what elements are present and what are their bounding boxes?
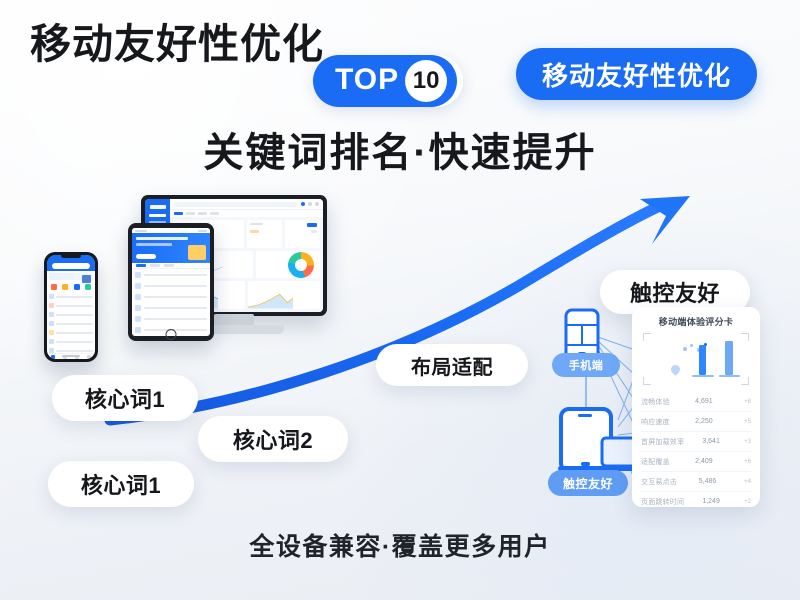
dashboard-logo <box>150 205 166 209</box>
table-row: 页面跳转时间 1,249 +2 <box>641 492 751 507</box>
quick-icon <box>51 284 57 290</box>
top-rank-badge-inner: TOP 10 <box>313 55 457 107</box>
phone-list <box>47 292 95 353</box>
dashboard-toolbar-dot <box>315 202 319 206</box>
diagram-pill-touch: 触控友好 <box>548 470 628 496</box>
dashboard-toolbar-dot <box>308 202 312 206</box>
list-item <box>49 294 93 299</box>
poster-canvas: 移动友好性优化 TOP 10 移动友好性优化 关键词排名·快速提升 <box>0 0 800 600</box>
phone-quick-icons <box>47 282 95 292</box>
phone-screen <box>47 255 95 359</box>
footer-tagline: 全设备兼容·覆盖更多用户 <box>0 527 800 563</box>
row-value: 5,486 <box>699 478 717 485</box>
top-rank-badge-word: TOP <box>335 65 399 97</box>
tablet-status-right <box>198 230 207 232</box>
top-rank-badge-number: 10 <box>405 60 447 102</box>
keyword-pill-2: 核心词2 <box>198 416 348 462</box>
header-blue-tag: 移动友好性优化 <box>516 48 757 100</box>
list-item <box>135 272 207 278</box>
tabbar-icon <box>51 355 55 359</box>
row-label: 流畅体验 <box>641 397 670 407</box>
row-change: +8 <box>738 399 751 405</box>
quick-icon <box>74 284 80 290</box>
diagram-pill-mobile: 手机端 <box>552 353 620 377</box>
row-change: +3 <box>738 439 751 445</box>
phone-home-indicator <box>62 355 80 357</box>
row-label: 响应速度 <box>641 417 670 427</box>
score-card-chart <box>643 333 749 385</box>
score-card-title: 移动端体验评分卡 <box>641 315 751 328</box>
row-change: +5 <box>738 419 751 425</box>
dashboard-filter-chip <box>198 212 207 215</box>
table-row: 适配覆盖 2,409 +6 <box>641 452 751 472</box>
row-label: 交互易点击 <box>641 477 677 487</box>
row-value: 1,249 <box>702 498 720 505</box>
list-item <box>135 316 207 322</box>
dashboard-nav-item <box>149 214 166 217</box>
list-item <box>49 321 93 326</box>
page-title: 移动友好性优化 <box>30 24 324 65</box>
tablet-home-button <box>166 329 177 340</box>
row-change: +2 <box>738 499 751 505</box>
device-relation-diagram: 手机端 触控友好 移动端体验评分卡 流畅体验 4,691 +8 <box>540 305 780 515</box>
dashboard-filter-row <box>170 210 323 217</box>
row-label: 页面跳转时间 <box>641 497 684 507</box>
dashboard-search-bar <box>174 202 298 207</box>
row-value: 3,641 <box>702 438 720 445</box>
table-row: 响应速度 2,250 +5 <box>641 412 751 432</box>
list-item <box>49 303 93 308</box>
dashboard-filter-chip <box>174 212 183 215</box>
smartphone-icon <box>44 252 98 362</box>
tablet-screen <box>132 228 210 336</box>
list-item <box>49 330 93 335</box>
phone-banner <box>49 273 93 280</box>
top-rank-badge: TOP 10 <box>313 55 463 107</box>
dashboard-area-card <box>248 281 320 309</box>
list-item <box>135 283 207 289</box>
tablet-list <box>132 269 210 336</box>
dashboard-filter-chip <box>186 212 195 215</box>
row-change: +4 <box>738 479 751 485</box>
tablet-device-icon <box>128 223 214 341</box>
row-value: 2,409 <box>695 458 713 465</box>
keyword-pill-3: 核心词1 <box>48 461 194 507</box>
table-row: 首屏加载效率 3,641 +3 <box>641 432 751 452</box>
dashboard-donut-card <box>256 251 320 279</box>
tablet-tab <box>164 264 174 267</box>
score-card-rows: 流畅体验 4,691 +8 响应速度 2,250 +5 首屏加载效率 3,641… <box>641 392 751 507</box>
dashboard-card <box>247 220 282 248</box>
tablet-tab <box>150 264 160 267</box>
row-value: 4,691 <box>695 398 713 405</box>
dashboard-card <box>285 220 320 248</box>
row-change: +6 <box>738 459 751 465</box>
list-item <box>49 339 93 344</box>
table-row: 交互易点击 5,486 +4 <box>641 472 751 492</box>
list-item <box>135 305 207 311</box>
row-label: 首屏加载效率 <box>641 437 684 447</box>
dashboard-filter-chip <box>210 212 219 215</box>
dashboard-toolbar <box>170 199 323 210</box>
search-input[interactable] <box>52 263 90 269</box>
device-mockup-group <box>28 195 338 375</box>
keyword-pill-1: 核心词1 <box>52 375 198 421</box>
tablet-tab <box>136 264 146 267</box>
tablet-hero-banner <box>132 233 210 262</box>
table-row: 流畅体验 4,691 +8 <box>641 392 751 412</box>
mobile-score-card: 移动端体验评分卡 流畅体验 4,691 +8 <box>632 307 760 507</box>
quick-icon <box>85 284 91 290</box>
tablet-status-left <box>135 230 147 232</box>
tablet-hero-button <box>136 254 156 259</box>
donut-chart-icon <box>288 252 314 278</box>
tablet-hero-title <box>136 237 188 240</box>
tablet-hero-image <box>188 245 206 260</box>
row-value: 2,250 <box>695 418 713 425</box>
location-pin-icon <box>669 363 682 376</box>
quick-icon <box>62 284 68 290</box>
list-item <box>49 312 93 317</box>
list-item <box>135 294 207 300</box>
tabbar-icon <box>87 355 91 359</box>
phone-notch <box>61 253 81 258</box>
page-subtitle: 关键词排名·快速提升 <box>0 120 800 178</box>
dashboard-toolbar-dot <box>301 202 305 206</box>
tablet-hero-subtitle <box>136 243 172 246</box>
row-label: 适配覆盖 <box>641 457 670 467</box>
callout-layout-adaptation: 布局适配 <box>376 344 528 386</box>
